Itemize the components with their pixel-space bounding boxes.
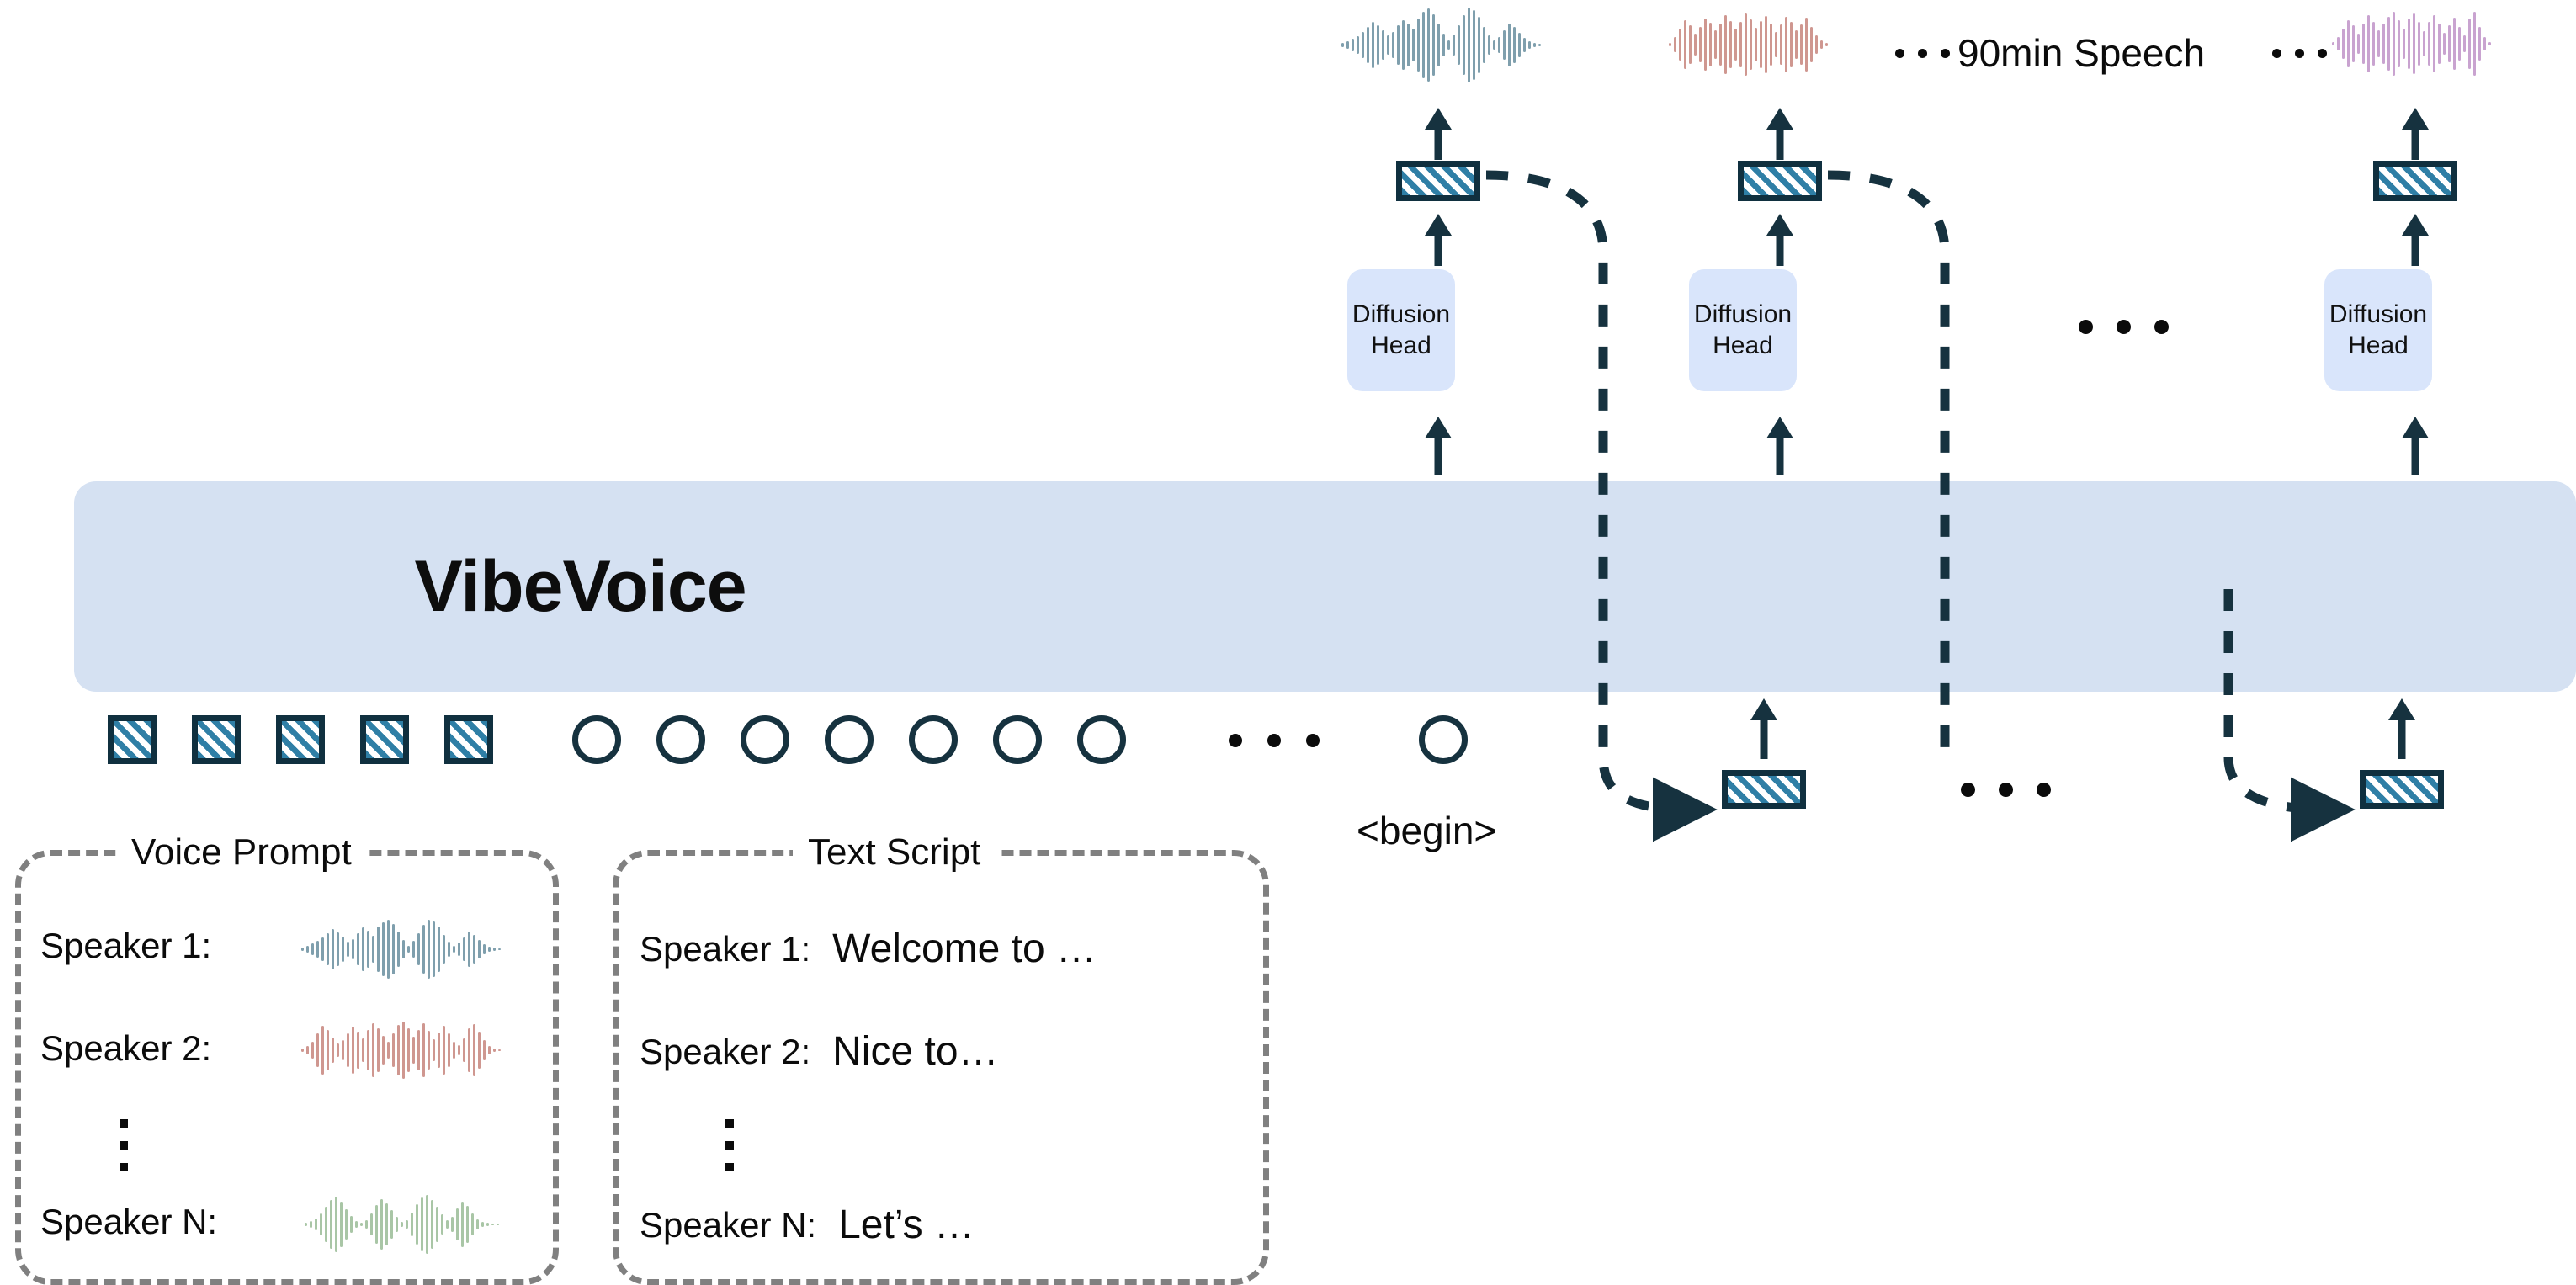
voice-prompt-token-2	[192, 715, 241, 764]
diffusion-head-1-line2: Head	[1371, 331, 1431, 362]
text-token-2	[656, 715, 705, 764]
latent-token-out-2	[1738, 161, 1822, 201]
voice-prompt-row-2-label: Speaker 2:	[40, 1028, 211, 1069]
text-script-row-1-label: Speaker 1:	[640, 929, 810, 969]
arrow-token-to-waveform-2	[1763, 108, 1797, 160]
voice-prompt-token-3	[276, 715, 325, 764]
text-script-vertical-ellipsis	[725, 1119, 734, 1171]
arrow-latent-to-bar-1	[1747, 698, 1781, 759]
text-token-1	[572, 715, 621, 764]
vibevoice-model-label: VibeVoice	[414, 545, 746, 629]
latent-token-out-1	[1396, 161, 1480, 201]
text-script-row-2-text: Nice to…	[832, 1028, 998, 1075]
latent-token-out-3	[2373, 161, 2457, 201]
arrow-head-to-token-1	[1421, 214, 1455, 266]
speech-duration-label: 90min Speech	[1957, 30, 2205, 76]
text-token-3	[741, 715, 789, 764]
voice-prompt-wave-1	[300, 919, 510, 984]
arrow-head-to-token-3	[2398, 214, 2432, 266]
text-script-row-2: Speaker 2: Nice to…	[640, 1028, 999, 1075]
voice-prompt-row-1-label: Speaker 1:	[40, 926, 211, 966]
voice-prompt-token-4	[360, 715, 409, 764]
text-script-row-3-text: Let’s …	[838, 1202, 975, 1248]
voice-prompt-title: Voice Prompt	[116, 831, 367, 873]
arrow-bar-to-head-1	[1421, 417, 1455, 475]
arrow-bar-to-head-2	[1763, 417, 1797, 475]
voice-prompt-token-1	[108, 715, 157, 764]
text-token-4	[825, 715, 874, 764]
voice-prompt-row-3-label: Speaker N:	[40, 1202, 217, 1242]
diffusion-head-1-line1: Diffusion	[1352, 300, 1450, 331]
text-token-ellipsis	[1229, 734, 1320, 747]
latent-token-in-2	[2360, 770, 2444, 809]
diffusion-head-ellipsis	[2079, 320, 2169, 334]
begin-token	[1419, 715, 1468, 764]
arrow-head-to-token-2	[1763, 214, 1797, 266]
text-script-row-1: Speaker 1: Welcome to …	[640, 926, 1097, 972]
text-token-6	[993, 715, 1042, 764]
text-script-title: Text Script	[793, 831, 996, 873]
voice-prompt-vertical-ellipsis	[120, 1119, 128, 1171]
output-ellipsis-left	[1895, 49, 1950, 58]
voice-prompt-token-5	[444, 715, 493, 764]
arrow-latent-to-bar-2	[2385, 698, 2419, 759]
text-script-row-3: Speaker N: Let’s …	[640, 1202, 975, 1248]
voice-prompt-row-2: Speaker 2:	[40, 1028, 211, 1069]
diffusion-head-2-line2: Head	[1713, 331, 1773, 362]
output-ellipsis-right	[2272, 49, 2327, 58]
diffusion-head-3[interactable]: Diffusion Head	[2324, 269, 2432, 391]
voice-prompt-wave-3	[303, 1195, 513, 1258]
text-token-7	[1077, 715, 1126, 764]
begin-token-label: <begin>	[1357, 808, 1496, 853]
latent-token-in-ellipsis	[1961, 783, 2051, 797]
voice-prompt-row-3: Speaker N:	[40, 1202, 217, 1242]
diffusion-head-2-line1: Diffusion	[1694, 300, 1792, 331]
arrow-token-to-waveform-1	[1421, 108, 1455, 160]
voice-prompt-wave-2	[300, 1020, 510, 1085]
output-waveform-speaker-2	[1668, 12, 1836, 82]
diffusion-head-1[interactable]: Diffusion Head	[1347, 269, 1455, 391]
text-script-row-2-label: Speaker 2:	[640, 1032, 810, 1072]
voice-prompt-row-1: Speaker 1:	[40, 926, 211, 966]
text-script-row-3-label: Speaker N:	[640, 1205, 816, 1245]
text-token-5	[909, 715, 958, 764]
diffusion-head-3-line1: Diffusion	[2329, 300, 2427, 331]
output-waveform-speaker-1	[1340, 7, 1550, 87]
arrow-bar-to-head-3	[2398, 417, 2432, 475]
diffusion-head-3-line2: Head	[2348, 331, 2409, 362]
arrow-token-to-waveform-3	[2398, 108, 2432, 160]
latent-token-in-1	[1722, 770, 1806, 809]
text-script-row-1-text: Welcome to …	[832, 926, 1097, 972]
diffusion-head-2[interactable]: Diffusion Head	[1689, 269, 1797, 391]
vibevoice-model-bar[interactable]: VibeVoice	[74, 481, 2576, 692]
output-waveform-speaker-n	[2331, 10, 2499, 82]
diagram-canvas: 90min Speech Diffusion Head Diffusion He…	[0, 0, 2576, 1285]
